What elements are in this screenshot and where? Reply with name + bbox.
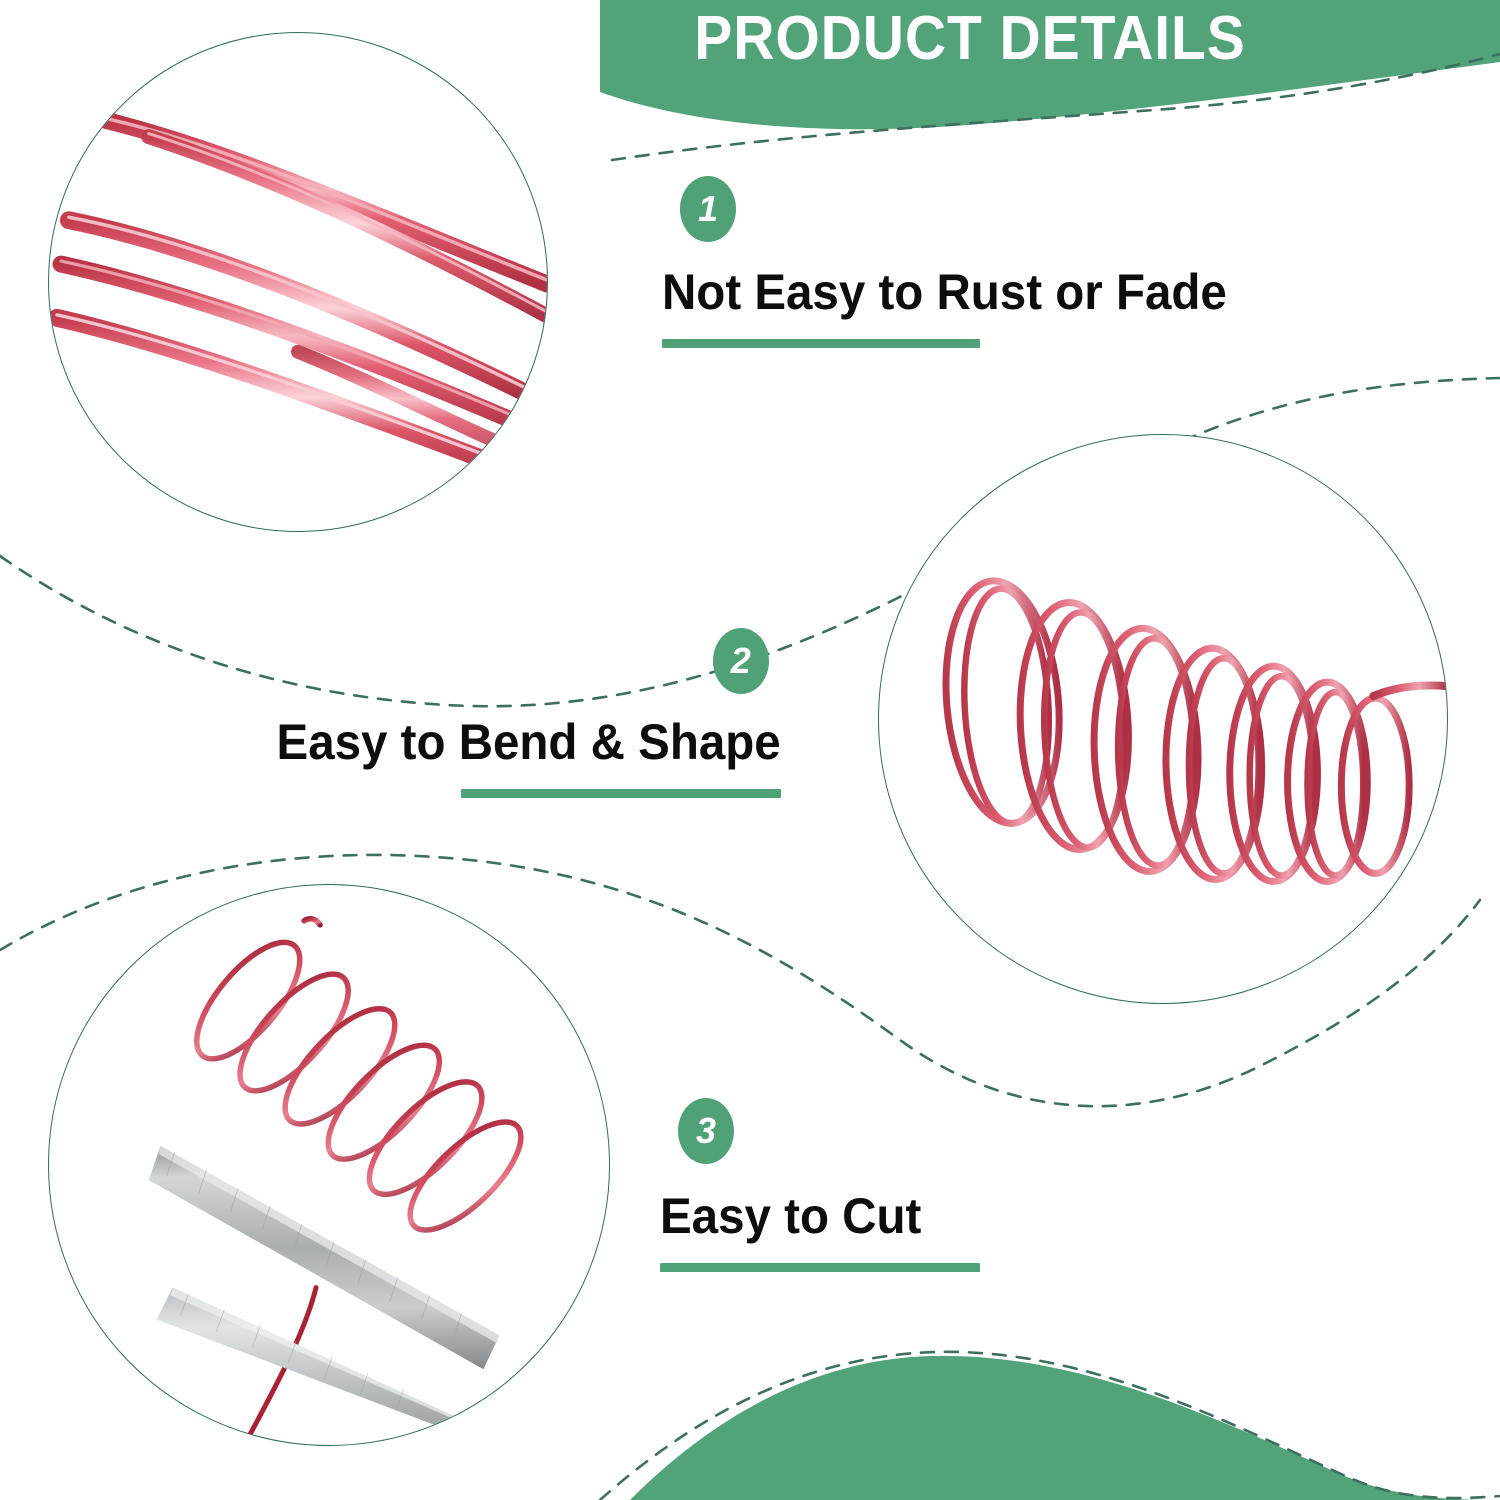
feature-block-2: 2 Easy to Bend & Shape xyxy=(250,628,781,798)
product-details-infographic: PRODUCT DETAILS 1 Not Easy to Rust or Fa… xyxy=(0,0,1500,1500)
feature-number-badge-1: 1 xyxy=(680,176,736,242)
feature-block-1: 1 Not Easy to Rust or Fade xyxy=(662,176,1257,348)
feature-block-3: 3 Easy to Cut xyxy=(660,1098,980,1272)
wire-strands-illustration xyxy=(49,33,547,531)
dashed-curve-bottom xyxy=(600,1352,1500,1500)
feature-underline-1 xyxy=(662,339,980,348)
feature-heading-1: Not Easy to Rust or Fade xyxy=(662,266,1227,319)
page-title: PRODUCT DETAILS xyxy=(666,8,1273,70)
pliers-cutting-illustration xyxy=(49,885,609,1445)
feature-number-badge-3: 3 xyxy=(678,1098,734,1164)
coil-spring-illustration xyxy=(879,435,1447,1003)
wire-strand-group xyxy=(57,119,547,484)
feature-underline-2 xyxy=(461,789,781,798)
feature-heading-2: Easy to Bend & Shape xyxy=(277,716,781,769)
photo-red-aluminum-wire-strands xyxy=(48,32,548,532)
photo-pliers-cutting-red-wire xyxy=(48,884,610,1446)
bottom-green-wave-shape xyxy=(630,1356,1500,1500)
photo-red-wire-coil-spring xyxy=(878,434,1448,1004)
plier-jaw-lower xyxy=(157,1288,518,1445)
feature-heading-3: Easy to Cut xyxy=(660,1190,964,1243)
coil-loop-group xyxy=(936,576,1447,881)
feature-number-badge-2: 2 xyxy=(713,628,769,694)
feature-underline-3 xyxy=(660,1263,980,1272)
